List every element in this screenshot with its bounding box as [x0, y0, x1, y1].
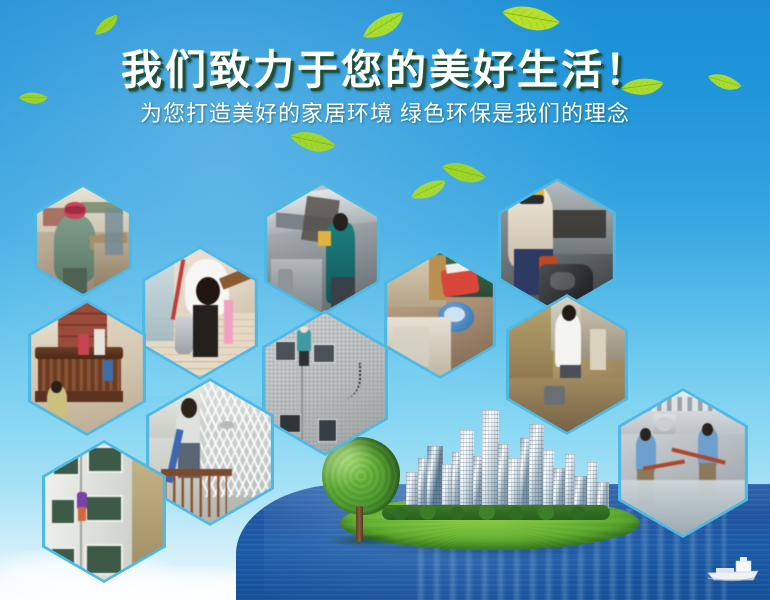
island-hedge: [382, 505, 610, 520]
building-windows: [529, 424, 544, 516]
island-tree: [322, 437, 400, 542]
page-title: 我们致力于您的美好生活！: [0, 36, 770, 96]
building-windows: [460, 430, 474, 516]
hex-photo-scene: [37, 187, 129, 294]
hex-photo-scene: [387, 253, 493, 376]
hex-photo: [37, 187, 129, 294]
skyline-building: [529, 424, 544, 516]
skyline-building: [460, 430, 474, 516]
skyline-building: [482, 410, 499, 516]
page-subtitle: 为您打造美好的家居环境 绿色环保是我们的理念: [0, 96, 770, 128]
tree-shadow: [328, 534, 398, 547]
boat: [706, 556, 760, 582]
green-island: [340, 496, 640, 550]
hex-photo: [387, 253, 493, 376]
building-windows: [482, 410, 499, 516]
tree-trunk: [356, 506, 363, 542]
banner-stage: 我们致力于您的美好生活！ 为您打造美好的家居环境 绿色环保是我们的理念: [0, 0, 770, 600]
